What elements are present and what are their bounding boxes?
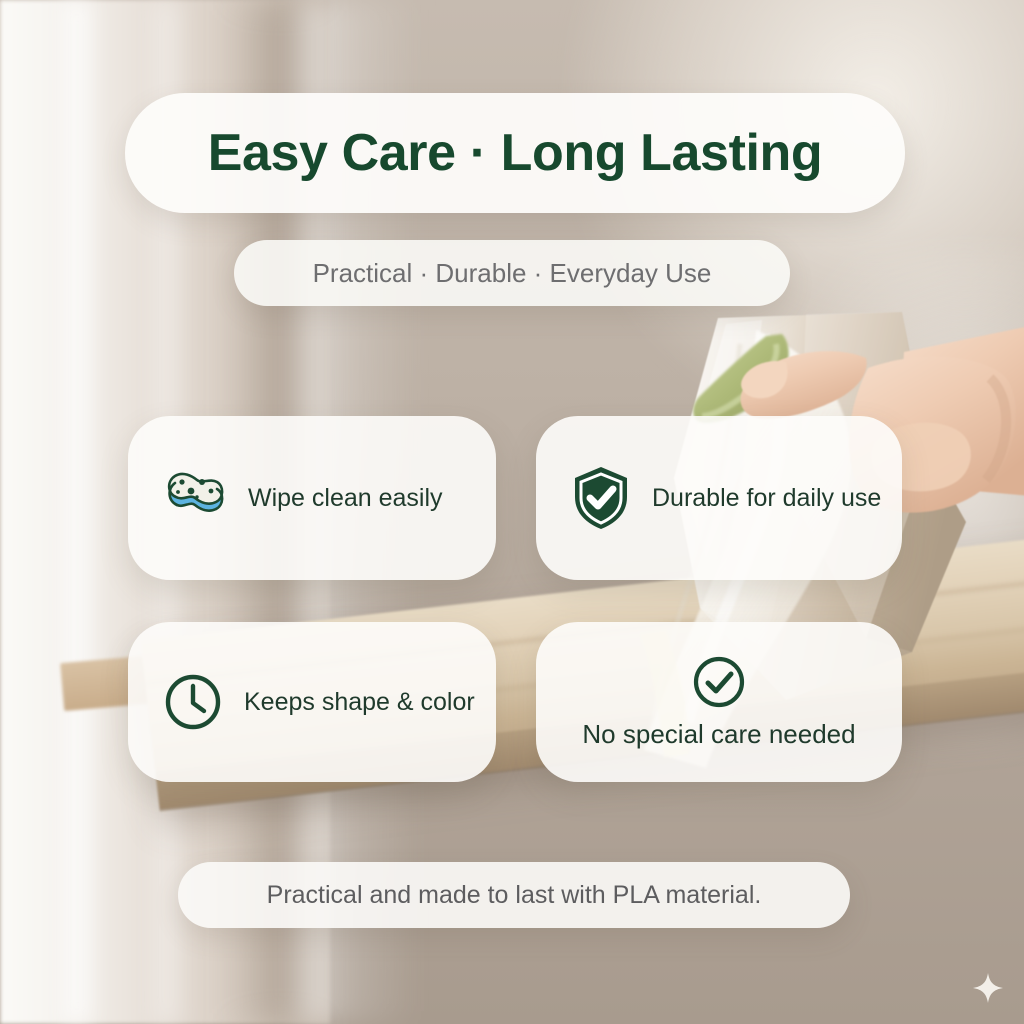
shield-check-icon — [572, 465, 630, 531]
page-subtitle: Practical · Durable · Everyday Use — [313, 258, 712, 289]
title-pill: Easy Care · Long Lasting — [125, 93, 905, 213]
sparkle-icon — [972, 972, 1004, 1004]
feature-label: Keeps shape & color — [244, 688, 475, 717]
check-circle-icon — [692, 655, 746, 709]
feature-label: No special care needed — [582, 719, 855, 750]
footer-caption: Practical and made to last with PLA mate… — [267, 881, 762, 910]
sponge-icon — [164, 471, 226, 525]
infographic-canvas: Easy Care · Long Lasting Practical · Dur… — [0, 0, 1024, 1024]
footer-pill: Practical and made to last with PLA mate… — [178, 862, 850, 928]
feature-card-no-special-care[interactable]: No special care needed — [536, 622, 902, 782]
feature-card-keeps-shape[interactable]: Keeps shape & color — [128, 622, 496, 782]
feature-label: Wipe clean easily — [248, 484, 443, 513]
clock-icon — [164, 673, 222, 731]
feature-card-wipe-clean[interactable]: Wipe clean easily — [128, 416, 496, 580]
feature-card-durable[interactable]: Durable for daily use — [536, 416, 902, 580]
subtitle-pill: Practical · Durable · Everyday Use — [234, 240, 790, 306]
page-title: Easy Care · Long Lasting — [208, 123, 823, 183]
curtain-fold-highlight — [54, 0, 100, 1024]
feature-label: Durable for daily use — [652, 484, 881, 513]
